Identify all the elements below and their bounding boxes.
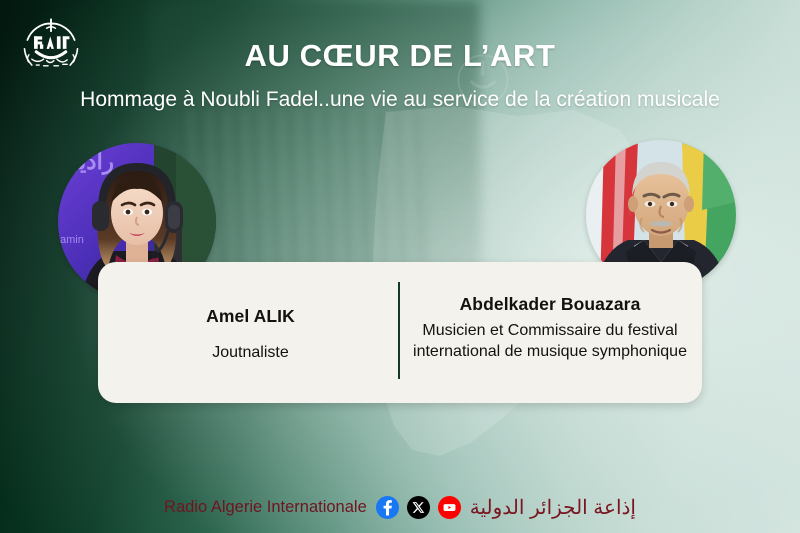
social-links	[376, 496, 461, 519]
x-twitter-icon[interactable]	[407, 496, 430, 519]
footer-bar: Radio Algerie Internationale إذاعة الجزا…	[0, 496, 800, 519]
svg-text:amin: amin	[60, 234, 84, 246]
program-subtitle: Hommage à Noubli Fadel..une vie au servi…	[0, 88, 800, 112]
footer-brand-arabic: إذاعة الجزائر الدولية	[470, 498, 636, 518]
guests-info-card: Amel ALIK Joutnaliste Abdelkader Bouazar…	[98, 262, 702, 403]
program-title: AU CŒUR DE L’ART	[0, 40, 800, 71]
guest-name-journalist: Amel ALIK	[108, 306, 393, 327]
guest-block-journalist: Amel ALIK Joutnaliste	[108, 262, 393, 362]
svg-text:راديو: راديو	[66, 148, 114, 176]
guest-block-musician: Abdelkader Bouazara Musicien et Commissa…	[403, 262, 697, 362]
footer-brand-latin: Radio Algerie Internationale	[164, 499, 367, 516]
card-divider	[398, 282, 400, 379]
guest-name-musician: Abdelkader Bouazara	[403, 294, 697, 315]
broadcast-promo-banner: AU CŒUR DE L’ART Hommage à Noubli Fadel.…	[0, 0, 800, 533]
facebook-icon[interactable]	[376, 496, 399, 519]
youtube-icon[interactable]	[438, 496, 461, 519]
guest-role-journalist: Joutnaliste	[108, 343, 393, 362]
guest-role-musician: Musicien et Commissaire du festival inte…	[403, 320, 697, 362]
